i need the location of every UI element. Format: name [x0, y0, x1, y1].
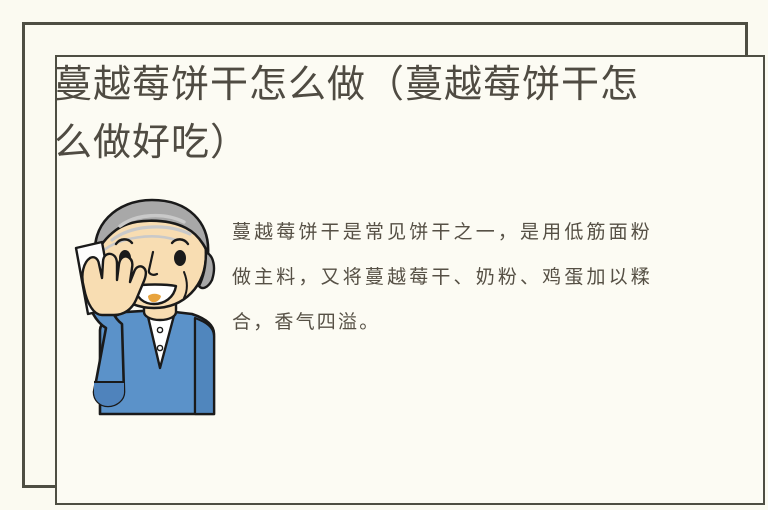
- elderly-man-illustration: [54, 196, 224, 426]
- article-content: 蔓越莓饼干是常见饼干之一，是用低筋面粉做主料，又将蔓越莓干、奶粉、鸡蛋加以糅合，…: [54, 196, 654, 426]
- page-root: 蔓越莓饼干怎么做（蔓越莓饼干怎么做好吃）: [0, 0, 768, 510]
- article-body-text: 蔓越莓饼干是常见饼干之一，是用低筋面粉做主料，又将蔓越莓干、奶粉、鸡蛋加以糅合，…: [232, 210, 652, 345]
- page-title: 蔓越莓饼干怎么做（蔓越莓饼干怎么做好吃）: [54, 56, 674, 172]
